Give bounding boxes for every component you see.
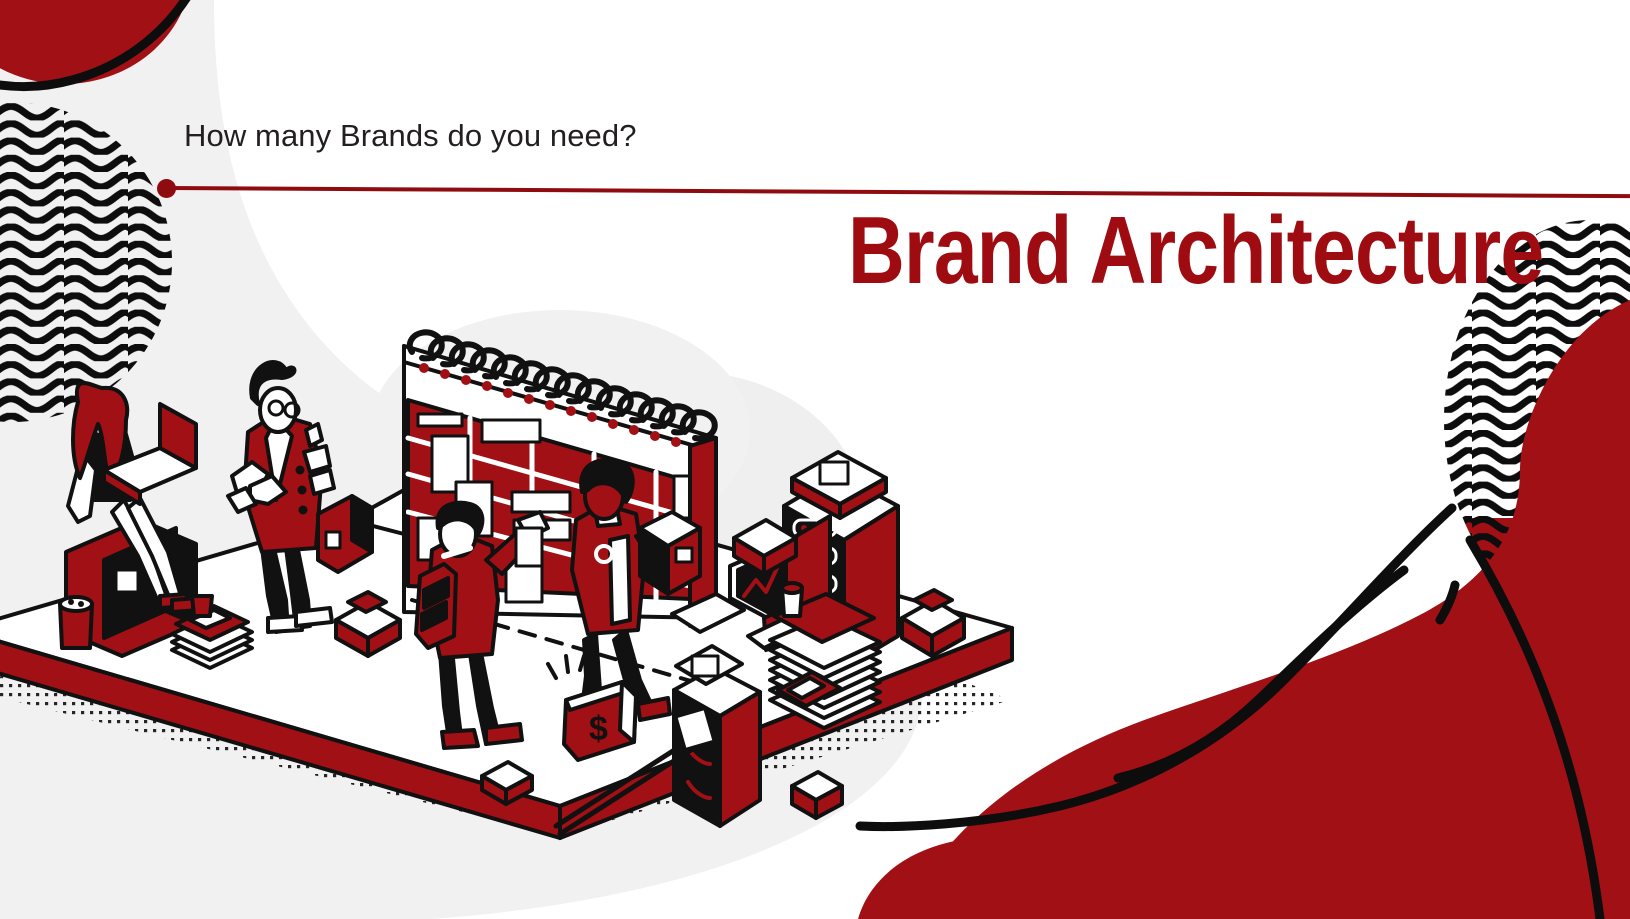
black-swoosh-diagonal [1470,540,1600,919]
money-bag: $ [548,656,636,760]
briefcase [318,496,372,572]
figure-person-pointing [416,503,548,748]
paper-stack-right [770,583,880,728]
red-organic-blob [896,300,1630,919]
waste-bin [60,597,92,648]
figure-woman-with-laptop [66,383,200,656]
slide-subtitle: How many Brands do you need? [184,118,637,154]
soft-gray-blob-2 [370,310,750,550]
red-circle-blob [0,0,196,87]
small-red-block-3 [902,590,964,656]
black-swoosh-inner [860,508,1452,827]
carried-box [640,512,700,594]
black-swoosh-tick [1440,585,1455,620]
small-red-block-5 [792,772,842,818]
figure-woman-carrying-box [572,460,700,720]
coffee-cup [782,583,802,616]
presentation-slide: $ [0,0,1630,919]
monitor-chart [730,516,830,650]
flip-chart-board [350,332,716,686]
small-red-block-2 [734,520,796,574]
red-organic-blob-lobe [858,837,1160,919]
red-document [778,672,840,706]
floating-paper [672,594,744,632]
accent-rule-dot [157,179,176,198]
slide-title: Brand Architecture [848,203,1543,299]
filing-cabinet [674,646,760,826]
wave-stripe-circle-left [0,95,180,435]
figure-man-with-papers [228,362,334,632]
platform-dot-shadow [0,672,1010,836]
money-bag-symbol: $ [589,710,608,748]
isometric-platform [0,478,1012,838]
small-red-block-1 [336,592,400,656]
soft-gray-blob [515,372,865,668]
server-rack [784,452,898,668]
small-red-block-4 [482,762,532,804]
black-swoosh-outer [1118,570,1404,778]
cabinet-rod [556,709,714,834]
paper-stack-left [172,596,252,668]
